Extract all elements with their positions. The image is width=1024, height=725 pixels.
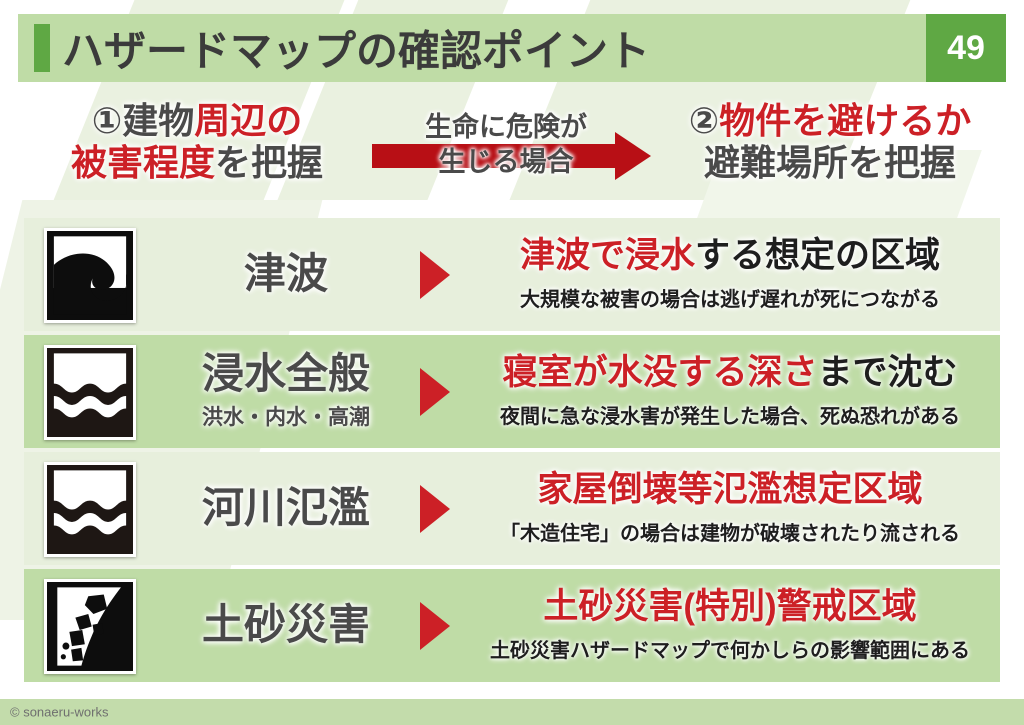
flood-water-icon [44,345,136,440]
arrow-label-line-2: 生じる場合 [372,145,640,180]
row-headline: 家屋倒壊等氾濫想定区域 [537,471,922,510]
point-two-line-2: 避難場所を把握 [650,142,1010,184]
row-description: 家屋倒壊等氾濫想定区域 「木造住宅」の場合は建物が破壊されたり流される [456,452,1004,565]
point-one-line-1: ①建物周辺の [22,100,372,142]
copyright-text: © sonaeru-works [10,705,108,720]
row-note: 「木造住宅」の場合は建物が破壊されたり流される [500,517,960,546]
row-note: 土砂災害ハザードマップで何かしらの影響範囲にある [490,634,970,663]
page-number-badge: 49 [926,14,1006,82]
arrow-label: 生命に危険が 生じる場合 [372,110,640,180]
row-headline: 津波で浸水する想定の区域 [520,237,940,276]
row-note: 夜間に急な浸水害が発生した場合、死ぬ恐れがある [500,400,960,429]
row-label-main: 河川氾濫 [202,486,370,530]
point-one: ①建物周辺の 被害程度を把握 [22,100,372,185]
transition-arrow: 生命に危険が 生じる場合 [372,110,652,202]
landslide-rocks-icon [44,579,136,674]
row-label-main: 土砂災害 [202,603,370,647]
row-note: 大規模な被害の場合は逃げ遅れが死につながる [520,283,940,312]
point-two-line-1: ②物件を避けるか [650,100,1010,142]
row-description: 津波で浸水する想定の区域 大規模な被害の場合は逃げ遅れが死につながる [456,218,1004,331]
page-title: ハザードマップの確認ポイント [62,18,650,79]
point-one-line-2: 被害程度を把握 [22,142,372,184]
point-two: ②物件を避けるか 避難場所を把握 [650,100,1010,185]
row-label: 津波 [160,218,412,331]
row-description: 土砂災害(特別)警戒区域 土砂災害ハザードマップで何かしらの影響範囲にある [456,569,1004,682]
row-arrow-icon [420,251,450,299]
river-flood-icon [44,462,136,557]
row-headline: 土砂災害(特別)警戒区域 [543,588,916,627]
intro-section: ①建物周辺の 被害程度を把握 生命に危険が 生じる場合 ②物件を避けるか 避難場… [0,96,1024,208]
row-headline: 寝室が水没する深さまで沈む [502,354,957,393]
slide-canvas: ハザードマップの確認ポイント 49 ①建物周辺の 被害程度を把握 生命に危険が … [0,0,1024,725]
row-arrow-icon [420,368,450,416]
row-label: 土砂災害 [160,569,412,682]
hazard-row: 河川氾濫 家屋倒壊等氾濫想定区域 「木造住宅」の場合は建物が破壊されたり流される [0,452,1024,565]
arrow-label-line-1: 生命に危険が [372,110,640,145]
row-arrow-icon [420,485,450,533]
row-label: 浸水全般 洪水・内水・高潮 [160,335,412,448]
hazard-row: 浸水全般 洪水・内水・高潮 寝室が水没する深さまで沈む 夜間に急な浸水害が発生し… [0,335,1024,448]
row-label-sub: 洪水・内水・高潮 [202,401,370,431]
row-label: 河川氾濫 [160,452,412,565]
row-label-main: 津波 [244,252,328,296]
hazard-row-list: 津波 津波で浸水する想定の区域 大規模な被害の場合は逃げ遅れが死につながる 浸水… [0,218,1024,686]
header-accent-mark [34,24,50,72]
hazard-row: 津波 津波で浸水する想定の区域 大規模な被害の場合は逃げ遅れが死につながる [0,218,1024,331]
row-label-main: 浸水全般 [202,352,370,396]
footer-bar: © sonaeru-works [0,699,1024,725]
tsunami-wave-icon [44,228,136,323]
row-description: 寝室が水没する深さまで沈む 夜間に急な浸水害が発生した場合、死ぬ恐れがある [456,335,1004,448]
row-arrow-icon [420,602,450,650]
hazard-row: 土砂災害 土砂災害(特別)警戒区域 土砂災害ハザードマップで何かしらの影響範囲に… [0,569,1024,682]
header-bar: ハザードマップの確認ポイント 49 [18,14,1006,82]
